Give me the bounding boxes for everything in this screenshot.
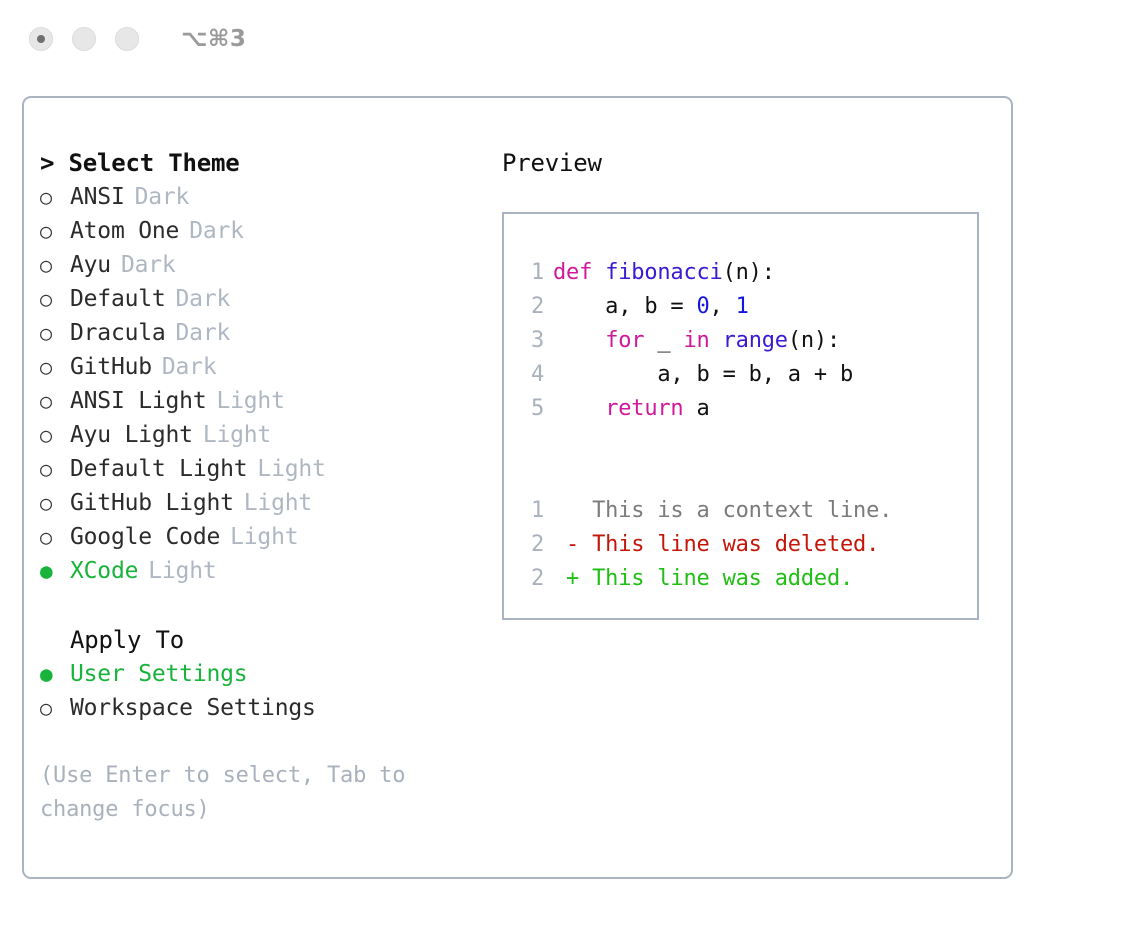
theme-variant: Light (216, 384, 284, 418)
theme-name: Google Code (70, 520, 220, 554)
app-window: ⌥⌘3 > Select Theme ○ANSIDark○Atom OneDar… (0, 0, 1140, 934)
code-line: 2 a, b = 0, 1 (522, 290, 977, 324)
code-token: for (605, 328, 644, 353)
radio-unselected-icon: ○ (40, 520, 70, 554)
code-line: 5 return a (522, 392, 977, 426)
title-bar: ⌥⌘3 (0, 0, 1140, 78)
radio-unselected-icon: ○ (40, 452, 70, 486)
code-token: a, b = (553, 294, 697, 319)
theme-list-item[interactable]: ○DefaultDark (40, 282, 490, 316)
radio-unselected-icon: ○ (40, 691, 70, 725)
keyboard-hint: (Use Enter to select, Tab to change focu… (40, 759, 460, 827)
code-token (553, 396, 605, 421)
apply-to-label: Workspace Settings (70, 691, 316, 725)
theme-name: GitHub Light (70, 486, 234, 520)
spacer-after-apply-to (40, 725, 490, 759)
line-number: 3 (522, 324, 544, 358)
theme-variant: Light (244, 486, 312, 520)
window-dot-active-inner (37, 35, 45, 43)
theme-variant: Dark (176, 316, 231, 350)
theme-variant: Light (148, 554, 216, 588)
diff-line: 2 + This line was added. (522, 562, 977, 596)
theme-list-item[interactable]: ○Atom OneDark (40, 214, 490, 248)
apply-to-label: User Settings (70, 657, 247, 691)
theme-list-item[interactable]: ○AyuDark (40, 248, 490, 282)
radio-unselected-icon: ○ (40, 214, 70, 248)
theme-name: Default Light (70, 452, 247, 486)
theme-name: Atom One (70, 214, 179, 248)
theme-list-item[interactable]: ○Ayu LightLight (40, 418, 490, 452)
theme-name: Default (70, 282, 166, 316)
theme-variant: Dark (176, 282, 231, 316)
code-diff-spacer (522, 426, 977, 460)
line-number: 4 (522, 358, 544, 392)
theme-list-item[interactable]: ○Default LightLight (40, 452, 490, 486)
line-number: 2 (522, 290, 544, 324)
radio-unselected-icon: ○ (40, 486, 70, 520)
theme-variant: Light (203, 418, 271, 452)
line-number: 2 (522, 528, 544, 562)
keyboard-shortcut-label: ⌥⌘3 (181, 26, 246, 52)
code-diff-spacer-2 (522, 460, 977, 494)
select-theme-header: > Select Theme (40, 146, 490, 180)
theme-list-item[interactable]: ●XCodeLight (40, 554, 490, 588)
theme-name: GitHub (70, 350, 152, 384)
radio-unselected-icon: ○ (40, 282, 70, 316)
radio-selected-icon: ● (40, 554, 70, 588)
window-dot-third[interactable] (115, 27, 139, 51)
radio-unselected-icon: ○ (40, 418, 70, 452)
line-number: 5 (522, 392, 544, 426)
window-dot-active[interactable] (29, 27, 53, 51)
apply-to-list: ●User Settings○Workspace Settings (40, 657, 490, 725)
code-token: def (553, 260, 592, 285)
code-token: range (723, 328, 788, 353)
code-line: 3 for _ in range(n): (522, 324, 977, 358)
window-controls (29, 27, 139, 51)
code-token: in (683, 328, 709, 353)
code-sample: 1def fibonacci(n):2 a, b = 0, 13 for _ i… (522, 256, 977, 426)
radio-unselected-icon: ○ (40, 316, 70, 350)
theme-name: Ayu Light (70, 418, 193, 452)
radio-unselected-icon: ○ (40, 248, 70, 282)
main-panel: > Select Theme ○ANSIDark○Atom OneDark○Ay… (22, 96, 1013, 879)
theme-list-item[interactable]: ○Google CodeLight (40, 520, 490, 554)
code-token: , (710, 294, 736, 319)
radio-unselected-icon: ○ (40, 350, 70, 384)
theme-name: XCode (70, 554, 138, 588)
line-number: 2 (522, 562, 544, 596)
preview-header: Preview (502, 146, 997, 180)
radio-unselected-icon: ○ (40, 384, 70, 418)
radio-selected-icon: ● (40, 657, 70, 691)
theme-variant: Dark (135, 180, 190, 214)
code-line: 1def fibonacci(n): (522, 256, 977, 290)
theme-selector-column: > Select Theme ○ANSIDark○Atom OneDark○Ay… (40, 146, 490, 827)
radio-unselected-icon: ○ (40, 180, 70, 214)
code-token: return (605, 396, 683, 421)
code-token: 0 (697, 294, 710, 319)
theme-variant: Light (230, 520, 298, 554)
theme-list-item[interactable]: ○ANSIDark (40, 180, 490, 214)
diff-text-ctx: This is a context line. (553, 498, 892, 523)
code-token: fibonacci (605, 260, 722, 285)
line-number: 1 (522, 256, 544, 290)
theme-variant: Dark (189, 214, 244, 248)
apply-to-header: Apply To (40, 623, 490, 657)
theme-list-item[interactable]: ○ANSI LightLight (40, 384, 490, 418)
theme-name: Ayu (70, 248, 111, 282)
theme-variant: Light (257, 452, 325, 486)
code-token (592, 260, 605, 285)
line-number: 1 (522, 494, 544, 528)
theme-list-item[interactable]: ○GitHub LightLight (40, 486, 490, 520)
theme-variant: Dark (121, 248, 176, 282)
panel-columns: > Select Theme ○ANSIDark○Atom OneDark○Ay… (24, 98, 1011, 877)
window-dot-second[interactable] (72, 27, 96, 51)
spacer-after-theme-list (40, 588, 490, 623)
code-token: _ (644, 328, 683, 353)
code-token: 1 (736, 294, 749, 319)
code-token: a, b = b, a + b (553, 362, 853, 387)
preview-box: 1def fibonacci(n):2 a, b = 0, 13 for _ i… (502, 212, 979, 620)
code-token (710, 328, 723, 353)
theme-name: ANSI (70, 180, 125, 214)
code-line: 4 a, b = b, a + b (522, 358, 977, 392)
code-token: a (683, 396, 709, 421)
theme-variant: Dark (162, 350, 217, 384)
diff-text-del: - This line was deleted. (553, 532, 879, 557)
theme-list-item[interactable]: ○DraculaDark (40, 316, 490, 350)
diff-line: 1 This is a context line. (522, 494, 977, 528)
apply-to-item[interactable]: ○Workspace Settings (40, 691, 490, 725)
code-token: (n): (723, 260, 775, 285)
theme-list-item[interactable]: ○GitHubDark (40, 350, 490, 384)
code-token (553, 328, 605, 353)
theme-name: ANSI Light (70, 384, 206, 418)
diff-text-add: + This line was added. (553, 566, 853, 591)
theme-name: Dracula (70, 316, 166, 350)
theme-list: ○ANSIDark○Atom OneDark○AyuDark○DefaultDa… (40, 180, 490, 588)
preview-column: Preview 1def fibonacci(n):2 a, b = 0, 13… (502, 146, 997, 620)
diff-line: 2 - This line was deleted. (522, 528, 977, 562)
apply-to-item[interactable]: ●User Settings (40, 657, 490, 691)
code-token: (n): (788, 328, 840, 353)
diff-sample: 1 This is a context line.2 - This line w… (522, 494, 977, 596)
